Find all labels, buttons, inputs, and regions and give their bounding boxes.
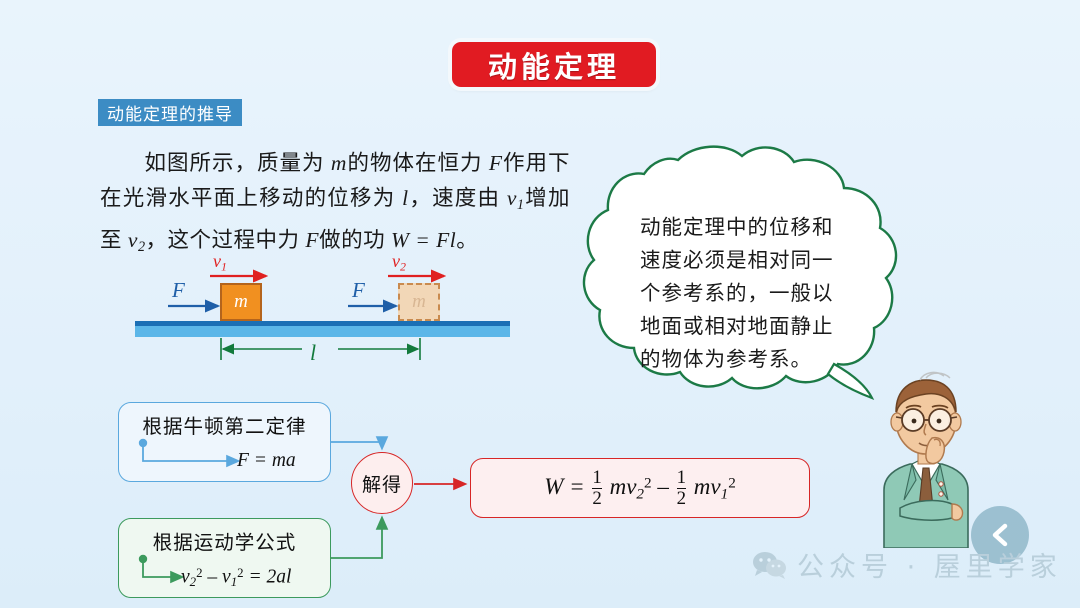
paragraph-seg-4: ，速度由: [409, 186, 501, 210]
fraction-half-1: 1 2: [592, 468, 601, 509]
symbol-force: F: [489, 151, 503, 175]
newton-inner-arrow: [119, 403, 332, 483]
slide-canvas: 动能定理 动能定理的推导 如图所示，质量为 m的物体在恒力 F作用下在光滑水平面…: [0, 0, 1080, 608]
diagram-arrows: [120, 248, 540, 368]
physics-diagram: m F v1 m F v2 l: [120, 248, 540, 368]
newton-equation: F = ma: [237, 450, 296, 472]
symbol-v1-sub: 1: [517, 197, 525, 213]
result-lhs: W =: [544, 474, 584, 499]
kinematics-equation: v22 – v12 = 2al: [181, 566, 291, 590]
symbol-v1: v: [507, 186, 517, 210]
solve-node-label: 解得: [362, 470, 402, 497]
thought-cloud-text: 动能定理中的位移和 速度必须是相对同一 个参考系的，一般以 地面或相对地面静止 …: [640, 212, 872, 377]
cloud-line-1: 动能定理中的位移和: [640, 212, 872, 245]
newton-law-box: 根据牛顿第二定律 F = ma: [118, 402, 331, 482]
cloud-line-2: 速度必须是相对同一: [640, 245, 872, 278]
cloud-line-3: 个参考系的，一般以: [640, 278, 872, 311]
wechat-icon: [752, 551, 786, 579]
result-formula-box: W = 1 2 mv22 – 1 2 mv12: [470, 458, 810, 518]
watermark-text: 公众号 · 屋里学家: [797, 545, 1062, 584]
solve-node: 解得: [351, 452, 413, 514]
result-formula: W = 1 2 mv22 – 1 2 mv12: [544, 468, 736, 509]
paragraph-seg-2: 的物体在恒力: [347, 151, 483, 175]
kinematics-box: 根据运动学公式 v22 – v12 = 2al: [118, 518, 331, 598]
thought-cloud: 动能定理中的位移和 速度必须是相对同一 个参考系的，一般以 地面或相对地面静止 …: [566, 142, 902, 414]
symbol-mass: m: [331, 151, 347, 175]
cloud-line-4: 地面或相对地面静止: [640, 311, 872, 344]
watermark: 公众号 · 屋里学家: [752, 545, 1062, 584]
teacher-figure: [866, 368, 986, 548]
cloud-line-5: 的物体为参考系。: [640, 344, 872, 377]
slide-title-badge: 动能定理: [452, 42, 656, 87]
paragraph-seg-1: 如图所示，质量为: [144, 151, 325, 175]
fraction-half-2: 1 2: [677, 468, 686, 509]
section-heading-badge: 动能定理的推导: [98, 99, 242, 126]
page-title: 动能定理: [488, 44, 620, 86]
section-heading-label: 动能定理的推导: [107, 100, 233, 125]
teacher-illustration: [866, 368, 986, 548]
